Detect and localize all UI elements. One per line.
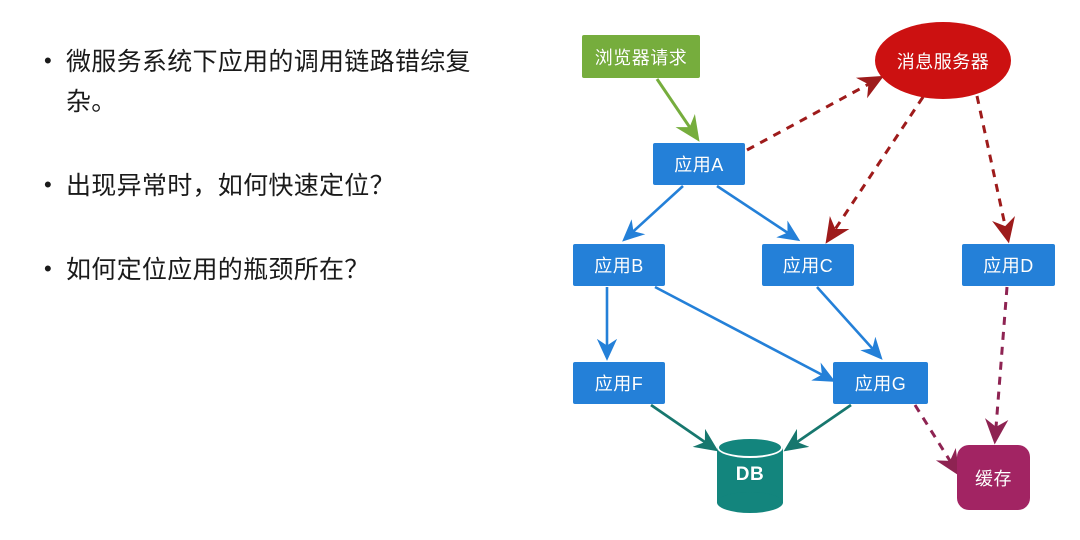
edge-appC-to-appG [817, 287, 880, 357]
node-database[interactable]: DB [717, 437, 783, 513]
node-label: 应用G [855, 370, 907, 396]
bullet-marker: • [44, 250, 66, 288]
list-item: • 微服务系统下应用的调用链路错综复杂。 [44, 42, 514, 122]
edge-mq-to-appC [828, 97, 923, 240]
edge-appF-to-db [651, 405, 715, 449]
bullet-marker: • [44, 166, 66, 204]
edge-appA-to-mq [747, 78, 880, 150]
node-app-d[interactable]: 应用D [962, 244, 1055, 286]
node-label: 应用A [674, 151, 724, 177]
node-cache[interactable]: 缓存 [957, 445, 1030, 510]
node-label: 应用D [983, 252, 1034, 278]
node-label: 应用F [595, 370, 644, 396]
node-label: DB [717, 437, 783, 513]
edge-appG-to-cache [915, 405, 957, 472]
node-label: 浏览器请求 [595, 44, 688, 70]
node-app-b[interactable]: 应用B [573, 244, 665, 286]
edge-mq-to-appD [977, 96, 1008, 239]
node-browser-request[interactable]: 浏览器请求 [582, 35, 700, 78]
node-app-c[interactable]: 应用C [762, 244, 854, 286]
node-app-a[interactable]: 应用A [653, 143, 745, 185]
bullet-list: • 微服务系统下应用的调用链路错综复杂。 • 出现异常时，如何快速定位？ • 如… [0, 0, 545, 540]
node-app-f[interactable]: 应用F [573, 362, 665, 404]
edge-browser-to-appA [657, 79, 697, 138]
bullet-text: 如何定位应用的瓶颈所在？ [66, 250, 514, 290]
architecture-diagram: 浏览器请求 消息服务器 应用A 应用B 应用C 应用D 应用F 应用G DB [545, 0, 1080, 540]
bullet-text: 微服务系统下应用的调用链路错综复杂。 [66, 42, 514, 122]
node-message-server[interactable]: 消息服务器 [875, 22, 1011, 99]
node-label: 缓存 [975, 465, 1012, 491]
edge-appD-to-cache [995, 287, 1007, 440]
bullet-text: 出现异常时，如何快速定位？ [66, 166, 514, 206]
edge-appA-to-appC [717, 186, 797, 239]
edge-appB-to-appG [655, 287, 832, 380]
edge-appA-to-appB [625, 186, 683, 239]
node-label: 应用B [594, 252, 644, 278]
list-item: • 如何定位应用的瓶颈所在？ [44, 250, 514, 290]
node-app-g[interactable]: 应用G [833, 362, 928, 404]
node-label: 应用C [783, 252, 834, 278]
node-label: 消息服务器 [897, 48, 990, 74]
bullet-marker: • [44, 42, 66, 80]
edge-appG-to-db [787, 405, 851, 449]
list-item: • 出现异常时，如何快速定位？ [44, 166, 514, 206]
slide-canvas: • 微服务系统下应用的调用链路错综复杂。 • 出现异常时，如何快速定位？ • 如… [0, 0, 1080, 540]
